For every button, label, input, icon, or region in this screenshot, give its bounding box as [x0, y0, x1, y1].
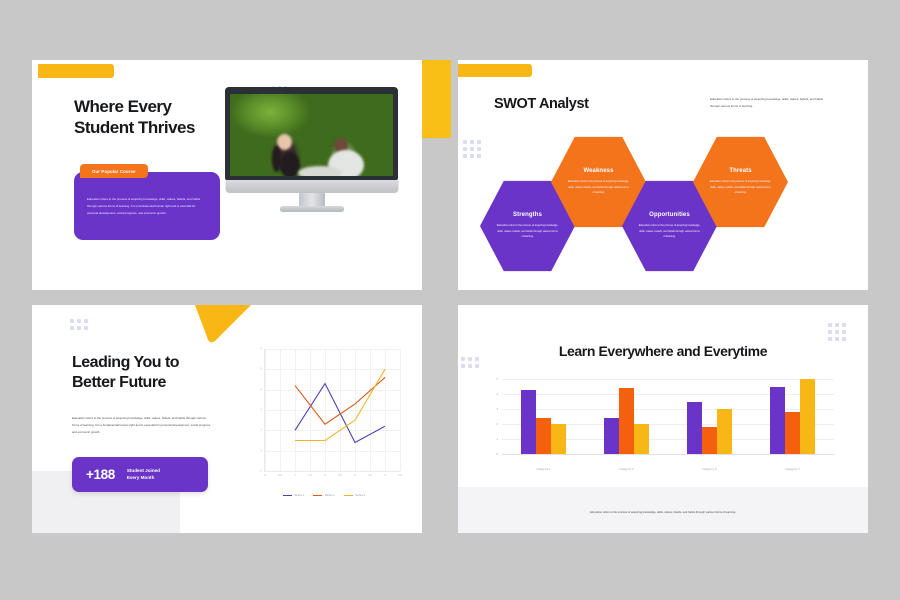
legend-item-series-2[interactable]: Series 2 — [313, 494, 334, 497]
line-chart-ytick-2: 2 — [261, 429, 263, 432]
swot-label-threats: Threats — [729, 168, 751, 174]
bar-chart-ytick-4: 4 — [496, 392, 498, 396]
bar-chart-ytick-1: 1 — [496, 437, 498, 441]
bar-3-series-2 — [702, 427, 717, 454]
bar-chart-category-label-3: Category 3 — [702, 467, 716, 471]
slide1-title-line1: Where Every — [74, 96, 195, 117]
line-chart-xtick-1: 0.5 — [278, 474, 282, 477]
bar-chart-ytick-3: 3 — [496, 407, 498, 411]
swot-body-weakness: Education refers to the process of acqui… — [568, 179, 630, 196]
bar-chart-ytick-5: 5 — [496, 377, 498, 381]
line-chart-xtick-8: 4 — [384, 474, 386, 477]
legend-label-series-3: Series 3 — [355, 494, 365, 497]
legend-label-series-2: Series 2 — [325, 494, 335, 497]
monitor-foot — [280, 206, 344, 212]
bar-chart-ytick-2: 2 — [496, 422, 498, 426]
line-chart-xtick-9: 4.5 — [398, 474, 402, 477]
line-chart-ytick-0: 0 — [261, 470, 263, 473]
badge-label-line2: Every Month — [127, 475, 155, 480]
bar-chart-plot-area: 5 4 3 2 1 0 — [502, 379, 834, 455]
slide-swot-analyst[interactable]: SWOT Analyst Education refers to the pro… — [458, 60, 868, 290]
bar-chart-ytick-0: 0 — [496, 452, 498, 456]
badge-number: +188 — [86, 467, 115, 482]
line-chart-ytick-4: 4 — [261, 388, 263, 391]
line-series-2 — [295, 377, 385, 424]
slide2-yellow-bar-decor — [458, 64, 532, 77]
legend-item-series-3[interactable]: Series 3 — [344, 494, 365, 497]
slide1-title: Where Every Student Thrives — [74, 96, 195, 138]
legend-item-series-1[interactable]: Series 1 — [283, 494, 304, 497]
swot-body-strengths: Education refers to the process of acqui… — [497, 223, 559, 240]
bar-1-series-2 — [536, 418, 551, 454]
swot-body-threats: Education refers to the process of acqui… — [710, 179, 772, 196]
slide3-student-count-badge[interactable]: +188 Student Joined Every Month — [72, 457, 208, 492]
line-chart-ytick-6: 6 — [261, 348, 263, 351]
line-chart-xtick-4: 2 — [324, 474, 326, 477]
slide2-title: SWOT Analyst — [494, 96, 589, 112]
line-chart-xtick-6: 3 — [354, 474, 356, 477]
monitor-chin — [225, 180, 398, 193]
slide3-title-line2: Better Future — [72, 373, 179, 393]
legend-label-series-1: Series 1 — [294, 494, 304, 497]
line-chart-plot-area: 6 5 4 3 2 1 0 0 0.5 1 1.5 2 2.5 3 3.5 4 … — [264, 349, 400, 472]
slide4-title: Learn Everywhere and Everytime — [458, 343, 868, 359]
bar-4-series-1 — [770, 387, 785, 455]
line-chart-ytick-3: 3 — [261, 409, 263, 412]
bar-group-2 — [604, 379, 649, 454]
bar-4-series-2 — [785, 412, 800, 454]
badge-label: Student Joined Every Month — [127, 468, 160, 481]
slide1-popular-course-pill[interactable]: Our Popular Course — [80, 164, 148, 178]
line-chart-xtick-7: 3.5 — [368, 474, 372, 477]
bar-4-series-3 — [800, 379, 815, 454]
line-chart-series-lines — [265, 349, 400, 471]
bar-group-4 — [770, 379, 815, 454]
bar-chart: 5 4 3 2 1 0 Category 1Category 2Category… — [478, 379, 834, 471]
badge-label-line1: Student Joined — [127, 468, 160, 473]
line-chart-xtick-2: 1 — [294, 474, 296, 477]
slide2-dot-grid-decor — [463, 140, 481, 158]
slide1-purple-text-card: Education refers to the process of acqui… — [74, 172, 220, 240]
slide-leading-you-to-better-future[interactable]: Leading You to Better Future Education r… — [32, 305, 422, 533]
monitor-screen-photo — [230, 94, 393, 176]
swot-label-opportunities: Opportunities — [649, 212, 690, 218]
bar-2-series-2 — [619, 388, 634, 454]
slide-where-every-student-thrives[interactable]: Where Every Student Thrives Education re… — [32, 60, 422, 290]
bar-3-series-1 — [687, 402, 702, 455]
swot-label-strengths: Strengths — [513, 212, 542, 218]
line-chart-xtick-3: 1.5 — [308, 474, 312, 477]
bar-chart-category-label-4: Category 4 — [785, 467, 799, 471]
slide4-dot-grid-topright-decor — [828, 323, 846, 341]
slide3-title-line1: Leading You to — [72, 353, 179, 373]
slide3-body-text: Education refers to the process of acqui… — [72, 415, 212, 435]
slide1-body-text: Education refers to the process of acqui… — [87, 196, 207, 216]
bar-2-series-3 — [634, 424, 649, 454]
line-chart-xtick-0: 0 — [264, 474, 266, 477]
monitor-mockup — [225, 87, 398, 212]
slide1-yellow-bar-decor — [38, 64, 114, 78]
slide3-yellow-fold-decor — [195, 305, 251, 343]
slide3-title: Leading You to Better Future — [72, 353, 179, 393]
swot-body-opportunities: Education refers to the process of acqui… — [639, 223, 701, 240]
bar-group-1 — [521, 379, 566, 454]
line-chart-ytick-5: 5 — [261, 368, 263, 371]
swot-label-weakness: Weakness — [583, 168, 613, 174]
bar-chart-category-label-2: Category 2 — [619, 467, 633, 471]
presentation-preview-canvas: Where Every Student Thrives Education re… — [0, 0, 900, 600]
slide-learn-everywhere-and-everytime[interactable]: Learn Everywhere and Everytime 5 4 3 2 1… — [458, 305, 868, 533]
slide4-caption: Education refers to the process of acqui… — [458, 511, 868, 514]
line-chart-legend: Series 1 Series 2 Series 3 — [244, 494, 404, 497]
bar-2-series-1 — [604, 418, 619, 454]
line-chart-xtick-5: 2.5 — [338, 474, 342, 477]
bar-1-series-1 — [521, 390, 536, 455]
bar-3-series-3 — [717, 409, 732, 454]
bar-chart-bar-groups — [502, 379, 834, 454]
bar-chart-category-label-1: Category 1 — [536, 467, 550, 471]
slide1-title-line2: Student Thrives — [74, 117, 195, 138]
line-chart: 6 5 4 3 2 1 0 0 0.5 1 1.5 2 2.5 3 3.5 4 … — [244, 345, 404, 500]
bar-1-series-3 — [551, 424, 566, 454]
slide2-subtitle: Education refers to the process of acqui… — [710, 96, 825, 110]
bar-chart-category-labels: Category 1Category 2Category 3Category 4 — [502, 467, 834, 471]
line-series-3 — [295, 369, 385, 440]
monitor-bezel — [225, 87, 398, 180]
line-chart-ytick-1: 1 — [261, 449, 263, 452]
monitor-stand — [299, 193, 325, 207]
slide3-dot-grid-decor — [70, 319, 88, 330]
bar-group-3 — [687, 379, 732, 454]
slide4-grey-footer-decor — [458, 487, 868, 533]
